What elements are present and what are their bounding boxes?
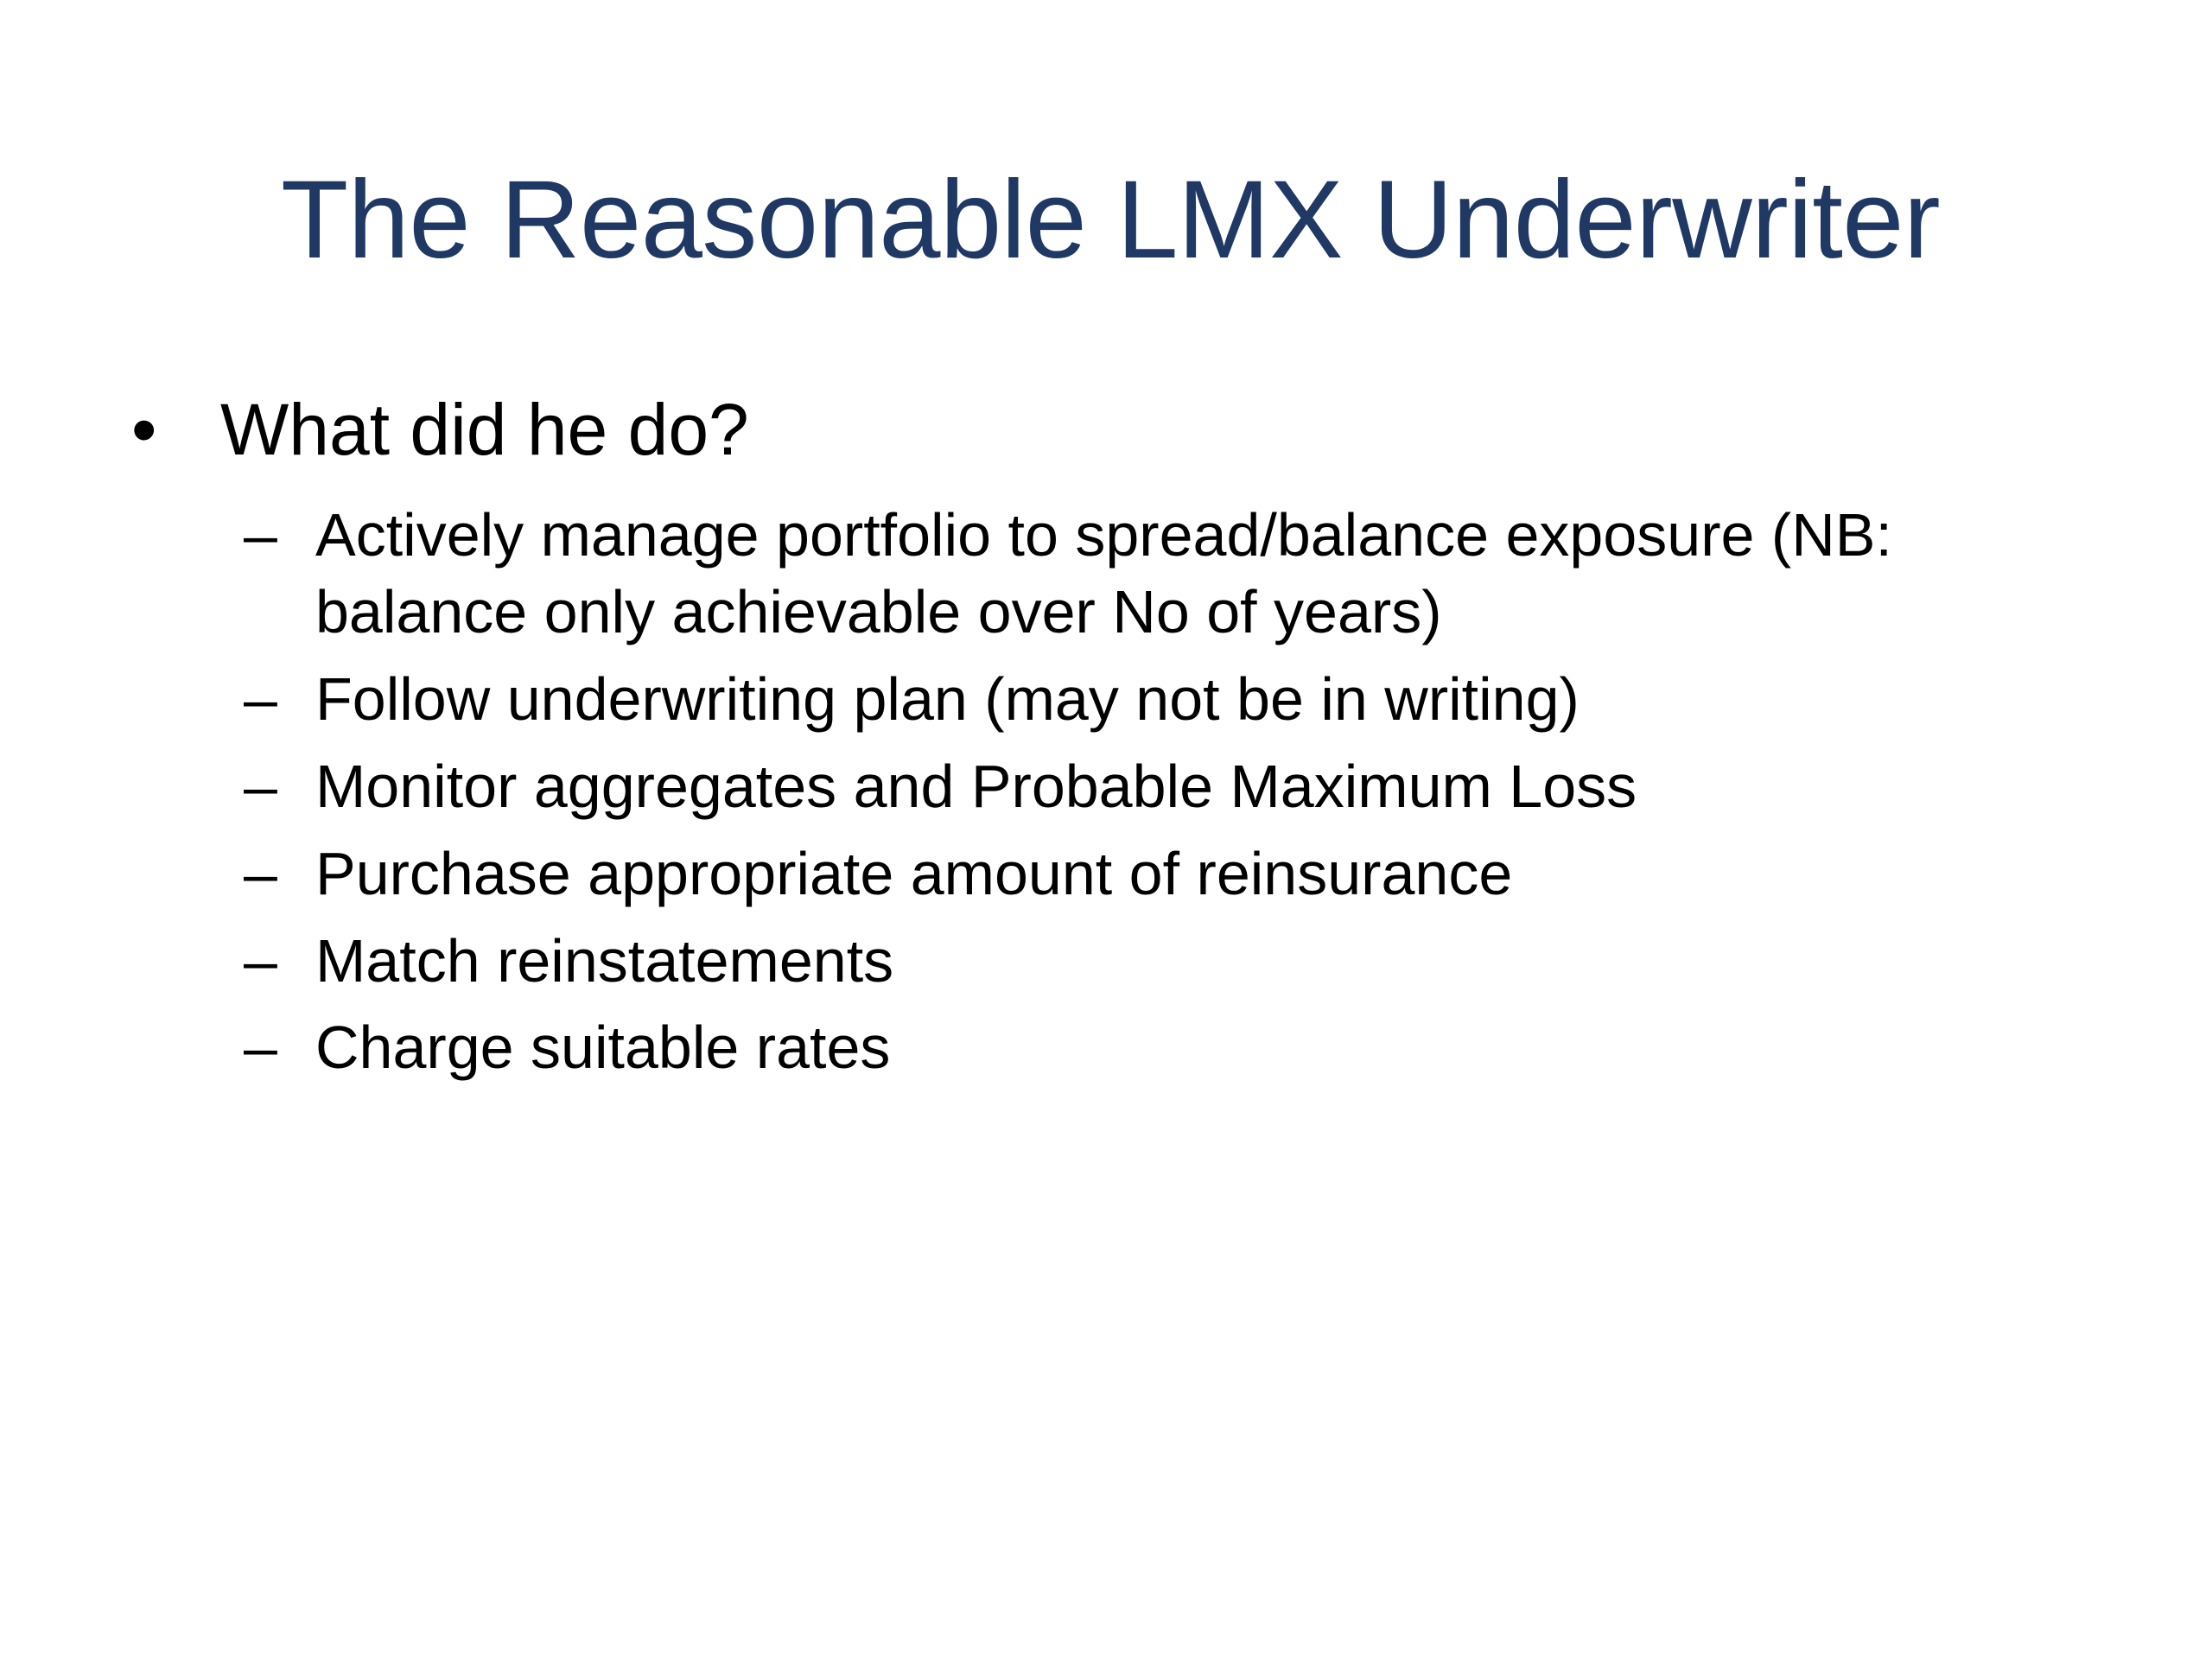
bullet-level2-label: Actively manage portfolio to spread/bala… bbox=[315, 497, 2100, 651]
dash-bullet-icon: – bbox=[244, 923, 277, 1000]
bullet-level2-list: – Actively manage portfolio to spread/ba… bbox=[112, 497, 2100, 1086]
page-title: The Reasonable LMX Underwriter bbox=[130, 157, 2091, 283]
dash-bullet-icon: – bbox=[244, 836, 277, 912]
bullet-level2-item: – Purchase appropriate amount of reinsur… bbox=[112, 836, 2100, 912]
dash-bullet-icon: – bbox=[244, 1009, 277, 1086]
bullet-level2-item: – Match reinstatements bbox=[112, 923, 2100, 1000]
bullet-level2-item: – Actively manage portfolio to spread/ba… bbox=[112, 497, 2100, 651]
bullet-level1-label: What did he do? bbox=[220, 389, 749, 470]
dash-bullet-icon: – bbox=[244, 748, 277, 825]
bullet-level2-item: – Monitor aggregates and Probable Maximu… bbox=[112, 748, 2100, 825]
bullet-level2-label: Monitor aggregates and Probable Maximum … bbox=[315, 748, 2100, 825]
dash-bullet-icon: – bbox=[244, 661, 277, 738]
round-bullet-icon: • bbox=[131, 387, 156, 473]
bullet-level2-label: Match reinstatements bbox=[315, 923, 2100, 1000]
slide-body: • What did he do? – Actively manage port… bbox=[112, 387, 2100, 1096]
dash-bullet-icon: – bbox=[244, 497, 277, 574]
bullet-level2-item: – Charge suitable rates bbox=[112, 1009, 2100, 1086]
bullet-level2-label: Charge suitable rates bbox=[315, 1009, 2100, 1086]
bullet-level2-label: Purchase appropriate amount of reinsuran… bbox=[315, 836, 2100, 912]
bullet-level1-item: • What did he do? bbox=[112, 387, 2100, 473]
bullet-level2-item: – Follow underwriting plan (may not be i… bbox=[112, 661, 2100, 738]
presentation-slide: The Reasonable LMX Underwriter • What di… bbox=[0, 0, 2212, 1659]
bullet-level2-label: Follow underwriting plan (may not be in … bbox=[315, 661, 2100, 738]
